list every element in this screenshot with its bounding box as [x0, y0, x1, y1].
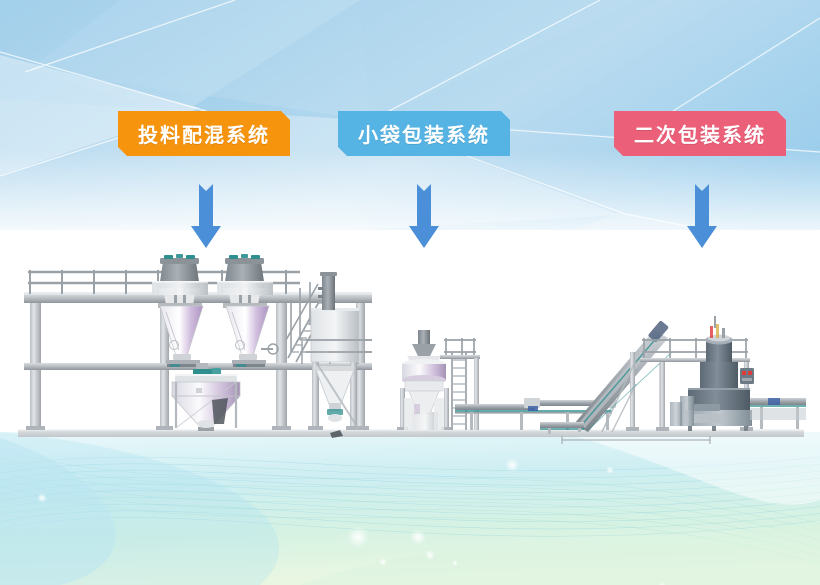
label-text-secondary-packaging-system: 二次包装系统 — [634, 119, 766, 148]
diagram-canvas: 投料配混系统 小袋包装系统 二次包装系统 — [0, 0, 820, 585]
label-secondary-packaging-system[interactable]: 二次包装系统 — [614, 111, 786, 156]
arrow-to-feeding-mixing-icon — [189, 182, 223, 250]
ribbon-mixer — [172, 363, 240, 431]
label-pouch-packaging-system[interactable]: 小袋包装系统 — [338, 111, 510, 156]
ground-line — [18, 429, 804, 437]
label-feeding-mixing-system[interactable]: 投料配混系统 — [118, 111, 290, 156]
arrow-to-secondary-packaging-icon — [685, 182, 719, 250]
discharge-conveyor — [750, 398, 806, 429]
arrow-to-pouch-packaging-icon — [407, 182, 441, 250]
case-packer — [670, 316, 754, 431]
storage-hopper-2 — [226, 306, 278, 367]
label-text-pouch-packaging-system: 小袋包装系统 — [358, 119, 490, 148]
production-line-illustration — [0, 0, 820, 585]
label-text-feeding-mixing-system: 投料配混系统 — [138, 119, 270, 148]
